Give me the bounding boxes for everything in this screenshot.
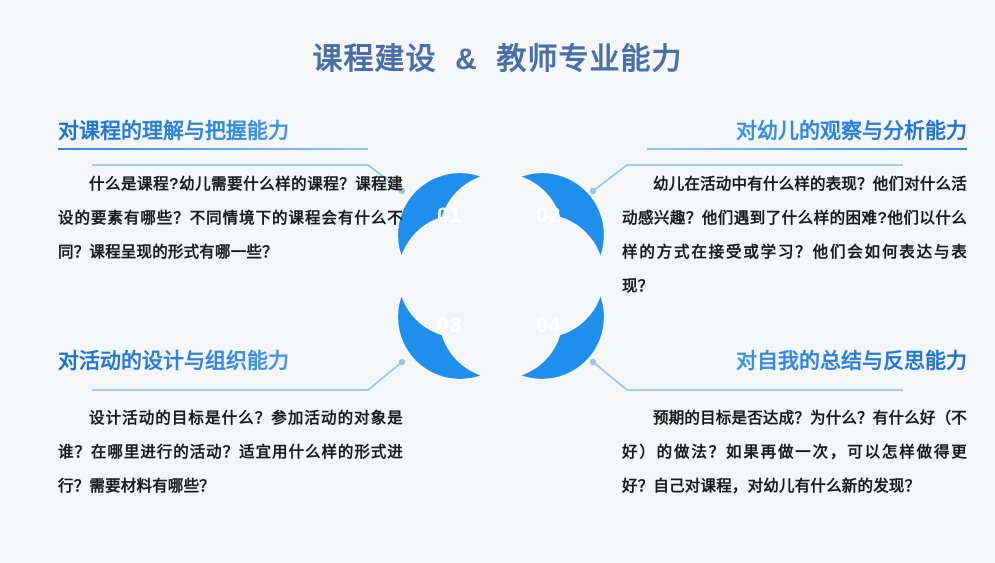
quadrant-body-top-left: 什么是课程?幼儿需要什么样的课程？课程建设的要素有哪些？不同情境下的课程会有什么… — [58, 168, 403, 270]
venn-flower-diagram: 01 02 03 04 — [385, 160, 617, 392]
quadrant-top-left: 对课程的理解与把握能力 什么是课程?幼儿需要什么样的课程？课程建设的要素有哪些？… — [58, 118, 403, 270]
quadrant-heading-top-right: 对幼儿的观察与分析能力 — [622, 118, 967, 146]
quadrant-body-top-right: 幼儿在活动中有什么样的表现？他们对什么活动感兴趣？他们遇到了什么样的困难?他们以… — [622, 168, 967, 304]
quadrant-heading-top-left: 对课程的理解与把握能力 — [58, 118, 403, 146]
quadrant-top-right: 对幼儿的观察与分析能力 幼儿在活动中有什么样的表现？他们对什么活动感兴趣？他们遇… — [622, 118, 967, 304]
petal-shapes — [398, 173, 604, 379]
heading-underline-top-right — [647, 148, 967, 150]
quadrant-body-bottom-right: 预期的目标是否达成？为什么？有什么好（不好）的做法？如果再做一次，可以怎样做得更… — [622, 402, 967, 504]
petal-number-04: 04 — [536, 314, 561, 338]
slide-canvas: 课程建设 & 教师专业能力 — [0, 0, 995, 563]
page-title: 课程建设 & 教师专业能力 — [0, 34, 995, 78]
quadrant-bottom-right: 对自我的总结与反思能力 预期的目标是否达成？为什么？有什么好（不好）的做法？如果… — [622, 348, 967, 504]
petal-number-01: 01 — [437, 204, 462, 228]
petal-number-03: 03 — [437, 314, 462, 338]
quadrant-heading-bottom-right: 对自我的总结与反思能力 — [622, 348, 967, 376]
heading-underline-top-left — [58, 148, 368, 150]
quadrant-bottom-left: 对活动的设计与组织能力 设计活动的目标是什么？参加活动的对象是谁？在哪里进行的活… — [58, 348, 403, 504]
quadrant-heading-bottom-left: 对活动的设计与组织能力 — [58, 348, 403, 376]
petal-number-02: 02 — [536, 204, 561, 228]
quadrant-body-bottom-left: 设计活动的目标是什么？参加活动的对象是谁？在哪里进行的活动？适宜用什么样的形式进… — [58, 402, 403, 504]
